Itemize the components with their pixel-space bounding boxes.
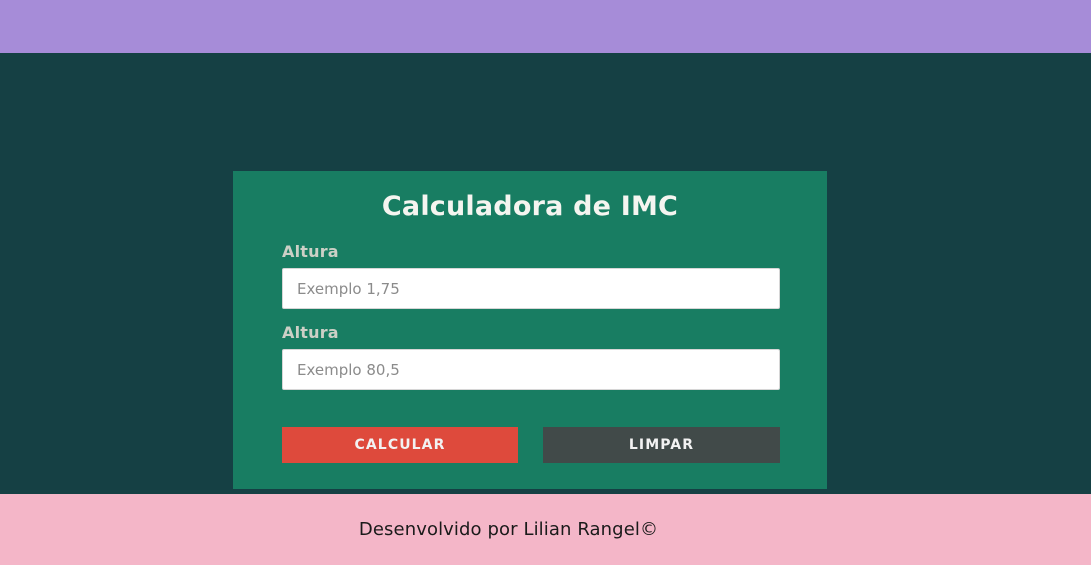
height-field-label: Altura xyxy=(282,243,780,261)
clear-button[interactable]: LIMPAR xyxy=(543,427,780,463)
weight-field-label: Altura xyxy=(282,324,780,342)
footer-credit-text: Desenvolvido por Lilian Rangel© xyxy=(359,519,732,540)
page-title: Calculadora de IMC xyxy=(233,171,827,222)
weight-field-group: Altura xyxy=(282,324,780,390)
card-button-row: CALCULAR LIMPAR xyxy=(282,427,780,463)
calculator-card: Calculadora de IMC Altura Altura CALCULA… xyxy=(233,171,827,489)
imc-form: Altura Altura xyxy=(282,243,780,390)
height-input[interactable] xyxy=(282,268,780,309)
imc-calculator-page: Calculadora de IMC Altura Altura CALCULA… xyxy=(0,0,1091,565)
page-main-area: Calculadora de IMC Altura Altura CALCULA… xyxy=(0,53,1091,494)
page-footer: Desenvolvido por Lilian Rangel© xyxy=(0,494,1091,565)
height-field-group: Altura xyxy=(282,243,780,309)
calculate-button[interactable]: CALCULAR xyxy=(282,427,518,463)
weight-input[interactable] xyxy=(282,349,780,390)
top-purple-bar xyxy=(0,0,1091,53)
